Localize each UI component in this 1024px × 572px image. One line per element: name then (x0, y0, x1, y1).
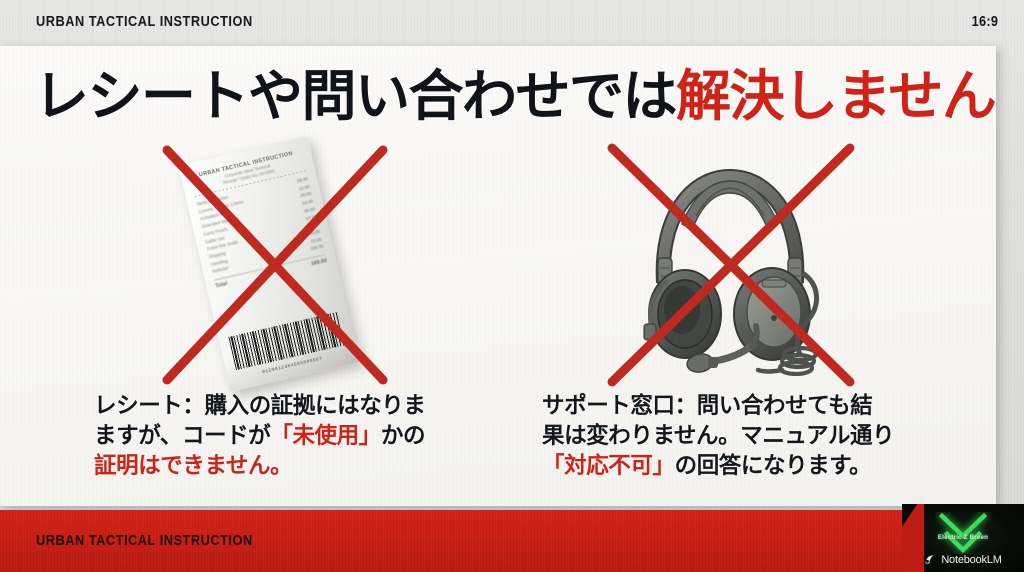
x-logo-icon (934, 512, 992, 554)
notebooklm-badge: NotebookLM (902, 553, 1024, 566)
footer-title: URBAN TACTICAL INSTRUCTION (36, 533, 253, 549)
caption-right-line-1: サポート窓口：問い合わせても結 (542, 392, 942, 422)
headline-red-part: 解決しません (676, 69, 995, 124)
caption-left-line-3: 証明はできません。 (94, 452, 494, 482)
caption-left-line2b-highlight: 「未使用」 (270, 423, 381, 449)
slide-root: URBAN TACTICAL INSTRUCTION 16:9 レシートや問い合… (0, 0, 1024, 572)
receipt-total-label: Total (215, 281, 228, 290)
caption-left-line-2: ますが、コードが「未使用」かの (94, 422, 494, 452)
visual-support-headset (600, 140, 860, 390)
page-title: レシートや問い合わせでは解決しません (34, 60, 964, 132)
visuals-row: URBAN TACTICAL INSTRUCTION Corporate Iss… (0, 140, 996, 390)
receipt-total-value: 169.00 (311, 258, 328, 267)
notebooklm-icon (924, 553, 937, 566)
slide-header: URBAN TACTICAL INSTRUCTION 16:9 (0, 0, 1024, 44)
headset-illustration (622, 154, 838, 376)
caption-left-line2a-text: ますが、コードが (94, 423, 270, 449)
headline-black-part: レシートや問い合わせでは (34, 69, 676, 124)
receipt-image: URBAN TACTICAL INSTRUCTION Corporate Iss… (179, 136, 360, 392)
caption-left-line3-highlight: 証明はできません。 (94, 453, 292, 479)
receipt-paper: URBAN TACTICAL INSTRUCTION Corporate Iss… (179, 136, 360, 392)
caption-right-line3b-text: の回答になります。 (675, 453, 872, 479)
caption-left-line1-text: レシート：購入の証拠にはなりま (94, 393, 426, 419)
receipt-subtotal-value: 169.00 (309, 243, 324, 254)
caption-right-line-3: 「対応不可」の回答になります。 (542, 452, 942, 482)
aspect-ratio-label: 16:9 (971, 14, 998, 30)
branding-badge: Electric Z Breen NotebookLM (902, 504, 1024, 572)
caption-support: サポート窓口：問い合わせても結 果は変わりません。マニュアル通り 「対応不可」の… (542, 392, 942, 482)
header-title: URBAN TACTICAL INSTRUCTION (36, 14, 253, 30)
caption-left-line-1: レシート：購入の証拠にはなりま (94, 392, 494, 422)
caption-right-line3-highlight: 「対応不可」 (542, 453, 675, 479)
caption-right-line-2: 果は変わりません。マニュアル通り (542, 422, 942, 452)
brand-name-label: Electric Z Breen (902, 534, 1024, 541)
caption-right-line2-text: 果は変わりません。マニュアル通り (542, 423, 894, 449)
receipt-barcode (228, 312, 345, 370)
caption-receipt: レシート：購入の証拠にはなりま ますが、コードが「未使用」かの 証明はできません… (94, 392, 494, 482)
visual-receipt: URBAN TACTICAL INSTRUCTION Corporate Iss… (145, 140, 405, 390)
caption-left-line2c-text: かの (381, 423, 425, 449)
notebooklm-label: NotebookLM (941, 554, 1001, 566)
slide-footer: URBAN TACTICAL INSTRUCTION (0, 510, 1024, 572)
caption-right-line1-text: サポート窓口：問い合わせても結 (542, 393, 872, 419)
headset-image (622, 154, 838, 376)
